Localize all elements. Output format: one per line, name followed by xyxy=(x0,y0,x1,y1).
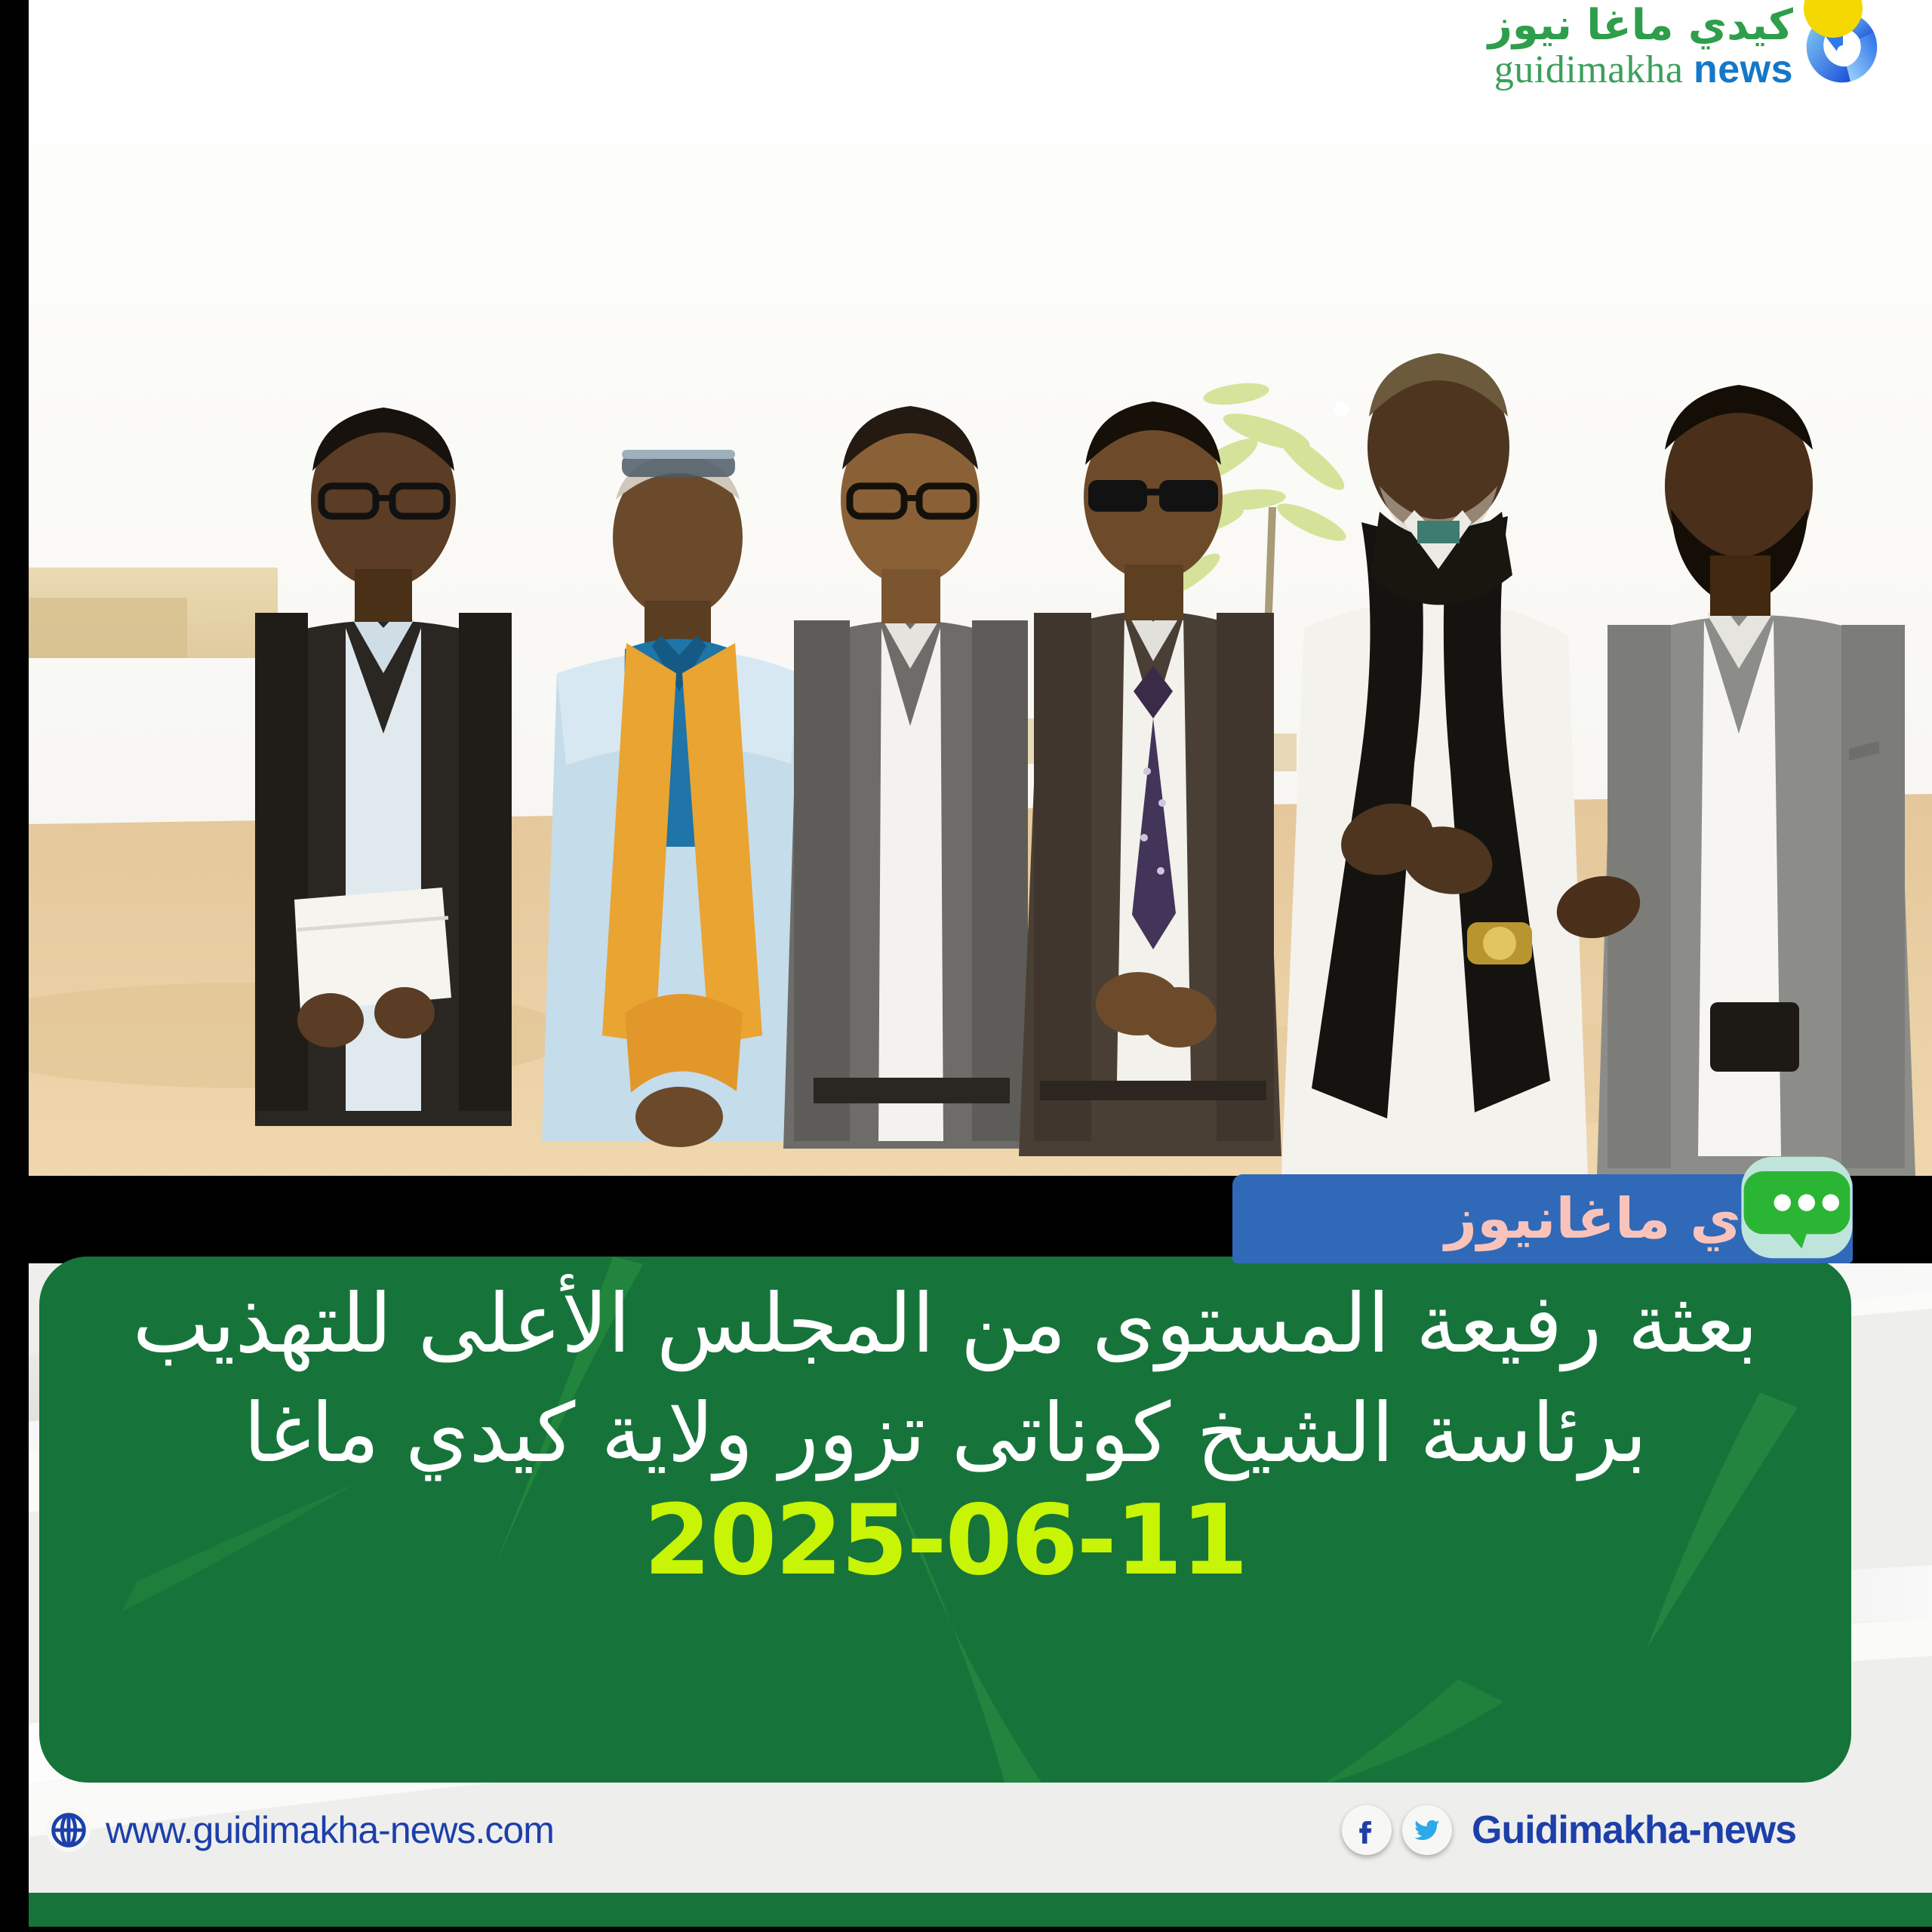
social-handle: Guidimakha-news xyxy=(1472,1807,1796,1853)
brand-logo-latin-secondary: news xyxy=(1694,48,1793,91)
chat-bubble-icon xyxy=(1737,1147,1857,1268)
article-photo xyxy=(29,145,1932,1176)
twitter-button[interactable] xyxy=(1402,1805,1452,1855)
news-poster: كيدي ماغا نيوز guidimakha news xyxy=(0,0,1932,1932)
social-links[interactable]: Guidimakha-news xyxy=(1342,1805,1796,1855)
brand-logo-latin-primary: guidimakha xyxy=(1494,48,1684,91)
headline-line-1: بعثة رفيعة المستوى من المجلس الأعلى للته… xyxy=(133,1270,1758,1380)
facebook-button[interactable] xyxy=(1342,1805,1392,1855)
facebook-icon xyxy=(1352,1816,1381,1844)
headline-card: بعثة رفيعة المستوى من المجلس الأعلى للته… xyxy=(39,1257,1851,1783)
ticker-banner[interactable]: كيدي ماغانيوز xyxy=(1232,1174,1853,1263)
footer-bar: www.guidimakha-news.com Guidimakha-news xyxy=(29,1796,1932,1894)
website-url: www.guidimakha-news.com xyxy=(106,1808,554,1852)
headline-text-block: بعثة رفيعة المستوى من المجلس الأعلى للته… xyxy=(39,1257,1851,1783)
brand-logo-latin: guidimakha news xyxy=(1494,50,1793,90)
publish-date: 2025-06-11 xyxy=(644,1493,1247,1589)
website-link[interactable]: www.guidimakha-news.com xyxy=(45,1807,554,1854)
brand-logo-text: كيدي ماغا نيوز guidimakha news xyxy=(1488,5,1793,90)
bottom-green-strip xyxy=(29,1893,1932,1927)
header-band: كيدي ماغا نيوز guidimakha news xyxy=(29,0,1932,145)
globe-icon xyxy=(45,1807,92,1854)
twitter-icon xyxy=(1413,1816,1441,1844)
photo-illustration xyxy=(29,145,1932,1176)
brand-logo-arabic: كيدي ماغا نيوز xyxy=(1488,5,1793,47)
headline-line-2: برئاسة الشيخ كوناتى تزور ولاية كيدي ماغا xyxy=(244,1380,1647,1489)
